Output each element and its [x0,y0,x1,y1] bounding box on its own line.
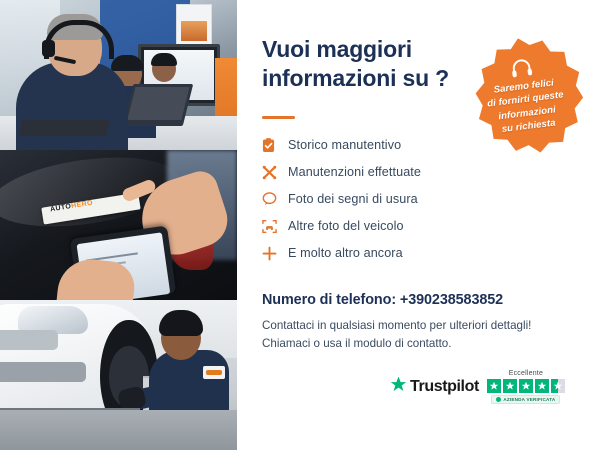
star-filled [535,379,549,393]
trustpilot-widget[interactable]: Trustpilot Eccellente [390,370,565,404]
verified-label: AZIENDA VERIFICATA [503,397,555,402]
star-filled [519,379,533,393]
page-title: Vuoi maggiori informazioni su ? [262,35,477,93]
trustpilot-rating: Eccellente [487,370,565,404]
colleague-far-hair [151,53,177,66]
list-item-label: Altre foto del veicolo [288,219,404,233]
trustpilot-star-icon [390,376,407,398]
speech-bubble-icon [262,192,288,206]
photo-frame-car-icon [262,219,288,234]
car-upper-grille [0,330,58,350]
list-item[interactable]: Altre foto del veicolo [262,213,492,239]
list-item[interactable]: Storico manutentivo [262,132,492,158]
trustpilot-logo: Trustpilot [390,376,479,398]
plus-icon [262,246,288,261]
headline-line-1: Vuoi maggiori [262,35,477,64]
phone-number[interactable]: Numero di telefono: +390238583852 [262,292,503,308]
promo-panel: AUTOHERO Vuoi [0,0,600,450]
colleague-hair [111,55,143,71]
verified-business-badge: AZIENDA VERIFICATA [491,395,560,404]
wrench-cross-icon [262,165,288,180]
title-divider [262,116,295,119]
trustpilot-brand-label: Trustpilot [410,378,479,396]
list-item-label: Foto dei segni di usura [288,192,418,206]
clipboard-check-icon [262,138,288,153]
contact-subtext-line-1: Contattaci in qualsiasi momento per ulte… [262,319,531,332]
call-center-agent-photo [0,0,237,150]
laptop [123,84,193,126]
mechanic-uniform-badge [203,366,225,379]
star-filled [487,379,501,393]
list-item-label: Manutenzioni effettuate [288,165,421,179]
content-panel: Vuoi maggiori informazioni su ? Saremo f… [237,0,600,450]
verified-check-icon [496,397,501,402]
photo-column: AUTOHERO [0,0,237,450]
workshop-floor [0,410,237,450]
wall-poster [176,4,212,46]
car-lower-grille [0,362,86,382]
star-filled [503,379,517,393]
list-item-label: Storico manutentivo [288,138,401,152]
keyboard [18,120,109,136]
rating-word: Eccellente [509,370,543,377]
contact-subtext-line-2: Chiamaci o usa il modulo di contatto. [262,337,451,350]
agent-headset-earpiece [42,40,55,57]
feature-list: Storico manutentivo Manutenzioni effettu… [262,132,492,267]
mechanic-wheel-inspection-photo [0,300,237,450]
headline-line-2: informazioni su ? [262,64,477,93]
list-item-label: E molto altro ancora [288,246,403,260]
mechanic-hair [159,310,203,336]
sticker-on-car-photo: AUTOHERO [0,150,237,300]
star-rating [487,379,565,393]
star-half [551,379,565,393]
list-item[interactable]: E molto altro ancora [262,240,492,266]
list-item[interactable]: Foto dei segni di usura [262,186,492,212]
list-item[interactable]: Manutenzioni effettuate [262,159,492,185]
